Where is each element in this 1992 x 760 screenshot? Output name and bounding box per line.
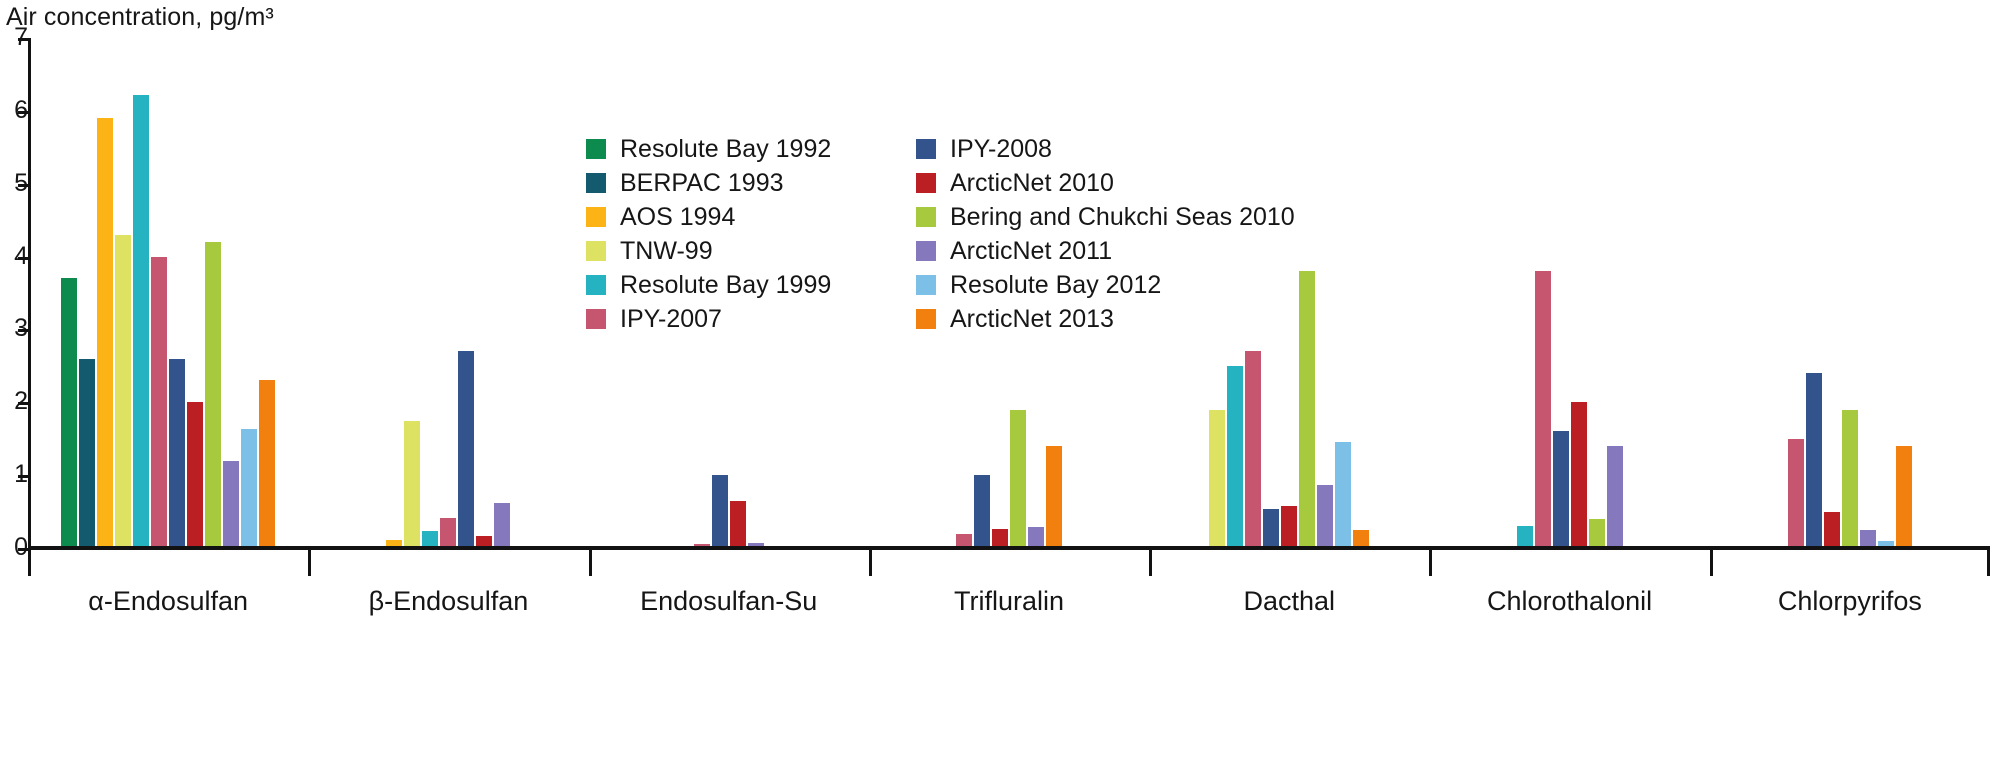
bar[interactable]: [1607, 446, 1623, 548]
bar[interactable]: [1245, 351, 1261, 548]
legend-item[interactable]: ArcticNet 2010: [916, 168, 1336, 198]
y-tick-label: 3: [14, 313, 28, 343]
y-tick-label: 0: [14, 532, 28, 562]
legend-item[interactable]: IPY-2007: [586, 304, 916, 334]
bar[interactable]: [1335, 442, 1351, 548]
legend-label: IPY-2008: [950, 135, 1052, 163]
x-axis-ticks: [28, 550, 1990, 580]
x-tick-mark: [28, 550, 31, 576]
legend-item[interactable]: ArcticNet 2013: [916, 304, 1336, 334]
bar[interactable]: [97, 118, 113, 548]
y-tick-label: 1: [14, 459, 28, 489]
bar[interactable]: [974, 475, 990, 548]
legend-item[interactable]: Resolute Bay 1992: [586, 134, 916, 164]
x-category-label: Dacthal: [1244, 584, 1336, 618]
legend-swatch-icon: [586, 173, 606, 193]
bar[interactable]: [1028, 527, 1044, 548]
x-category-label: Chlorpyrifos: [1778, 584, 1922, 618]
bar[interactable]: [1317, 485, 1333, 548]
bar[interactable]: [404, 421, 420, 549]
legend-swatch-icon: [586, 139, 606, 159]
x-category-label: β-Endosulfan: [369, 584, 529, 618]
legend-item[interactable]: Resolute Bay 1999: [586, 270, 916, 300]
legend-swatch-icon: [586, 241, 606, 261]
legend-label: Resolute Bay 1992: [620, 135, 831, 163]
legend-label: ArcticNet 2013: [950, 305, 1114, 333]
bar[interactable]: [223, 461, 239, 548]
x-category-label: Chlorothalonil: [1487, 584, 1652, 618]
x-tick-mark: [1149, 550, 1152, 576]
legend-label: TNW-99: [620, 237, 713, 265]
y-tick-label: 4: [14, 241, 28, 271]
y-tick-label: 7: [14, 22, 28, 52]
bar[interactable]: [1227, 366, 1243, 548]
y-tick-label: 2: [14, 386, 28, 416]
legend-label: Bering and Chukchi Seas 2010: [950, 203, 1295, 231]
bar[interactable]: [1788, 439, 1804, 548]
bar[interactable]: [712, 475, 728, 548]
legend-swatch-icon: [916, 275, 936, 295]
x-axis-labels: α-Endosulfanβ-EndosulfanEndosulfan-SuTri…: [28, 584, 1990, 624]
bar-group: [1429, 38, 1709, 548]
legend-column: Resolute Bay 1992BERPAC 1993AOS 1994TNW-…: [586, 134, 916, 338]
bar[interactable]: [205, 242, 221, 548]
chart-plot-area: 76543210 α-Endosulfanβ-EndosulfanEndosul…: [0, 36, 1992, 760]
bar[interactable]: [241, 429, 257, 548]
bar-group: [28, 38, 308, 548]
legend-item[interactable]: Bering and Chukchi Seas 2010: [916, 202, 1336, 232]
bar[interactable]: [133, 95, 149, 548]
bar[interactable]: [259, 380, 275, 548]
bar[interactable]: [1553, 431, 1569, 548]
x-category-label: Endosulfan-Su: [640, 584, 817, 618]
bar[interactable]: [1842, 410, 1858, 548]
bar[interactable]: [1589, 519, 1605, 548]
bar[interactable]: [440, 518, 456, 548]
bar[interactable]: [1281, 506, 1297, 548]
legend-swatch-icon: [586, 275, 606, 295]
bar[interactable]: [1209, 410, 1225, 548]
bar[interactable]: [115, 235, 131, 548]
bar[interactable]: [187, 402, 203, 548]
legend-label: ArcticNet 2010: [950, 169, 1114, 197]
legend-item[interactable]: TNW-99: [586, 236, 916, 266]
legend-label: Resolute Bay 1999: [620, 271, 831, 299]
bar[interactable]: [151, 257, 167, 548]
bar[interactable]: [1517, 526, 1533, 548]
bar[interactable]: [1896, 446, 1912, 548]
x-tick-mark: [1987, 550, 1990, 576]
x-tick-mark: [308, 550, 311, 576]
y-axis-title: Air concentration, pg/m³: [6, 2, 274, 32]
bar[interactable]: [169, 359, 185, 548]
legend-item[interactable]: AOS 1994: [586, 202, 916, 232]
legend-item[interactable]: ArcticNet 2011: [916, 236, 1336, 266]
legend-item[interactable]: Resolute Bay 2012: [916, 270, 1336, 300]
x-category-label: Trifluralin: [954, 584, 1064, 618]
legend-swatch-icon: [916, 207, 936, 227]
legend-swatch-icon: [916, 139, 936, 159]
x-tick-mark: [869, 550, 872, 576]
legend-label: Resolute Bay 2012: [950, 271, 1161, 299]
legend-label: ArcticNet 2011: [950, 237, 1112, 265]
x-tick-mark: [589, 550, 592, 576]
y-tick-label: 5: [14, 168, 28, 198]
x-category-label: α-Endosulfan: [88, 584, 248, 618]
legend-label: BERPAC 1993: [620, 169, 784, 197]
x-tick-mark: [1429, 550, 1432, 576]
bar-group: [1710, 38, 1990, 548]
bar[interactable]: [1571, 402, 1587, 548]
legend-label: AOS 1994: [620, 203, 735, 231]
bar[interactable]: [61, 278, 77, 548]
legend-swatch-icon: [916, 309, 936, 329]
bar[interactable]: [458, 351, 474, 548]
legend-item[interactable]: IPY-2008: [916, 134, 1336, 164]
legend-swatch-icon: [586, 309, 606, 329]
chart-legend: Resolute Bay 1992BERPAC 1993AOS 1994TNW-…: [586, 134, 1336, 338]
legend-column: IPY-2008ArcticNet 2010Bering and Chukchi…: [916, 134, 1336, 338]
bar[interactable]: [494, 503, 510, 548]
legend-swatch-icon: [586, 207, 606, 227]
bar[interactable]: [1046, 446, 1062, 548]
bar-group: [308, 38, 588, 548]
bar[interactable]: [1824, 512, 1840, 548]
bar[interactable]: [1263, 509, 1279, 548]
legend-item[interactable]: BERPAC 1993: [586, 168, 916, 198]
bar[interactable]: [1535, 271, 1551, 548]
bar[interactable]: [79, 359, 95, 548]
legend-swatch-icon: [916, 241, 936, 261]
x-tick-mark: [1710, 550, 1713, 576]
y-tick-label: 6: [14, 95, 28, 125]
legend-swatch-icon: [916, 173, 936, 193]
legend-label: IPY-2007: [620, 305, 722, 333]
bar[interactable]: [1806, 373, 1822, 548]
bar[interactable]: [1010, 410, 1026, 548]
bar[interactable]: [730, 501, 746, 548]
